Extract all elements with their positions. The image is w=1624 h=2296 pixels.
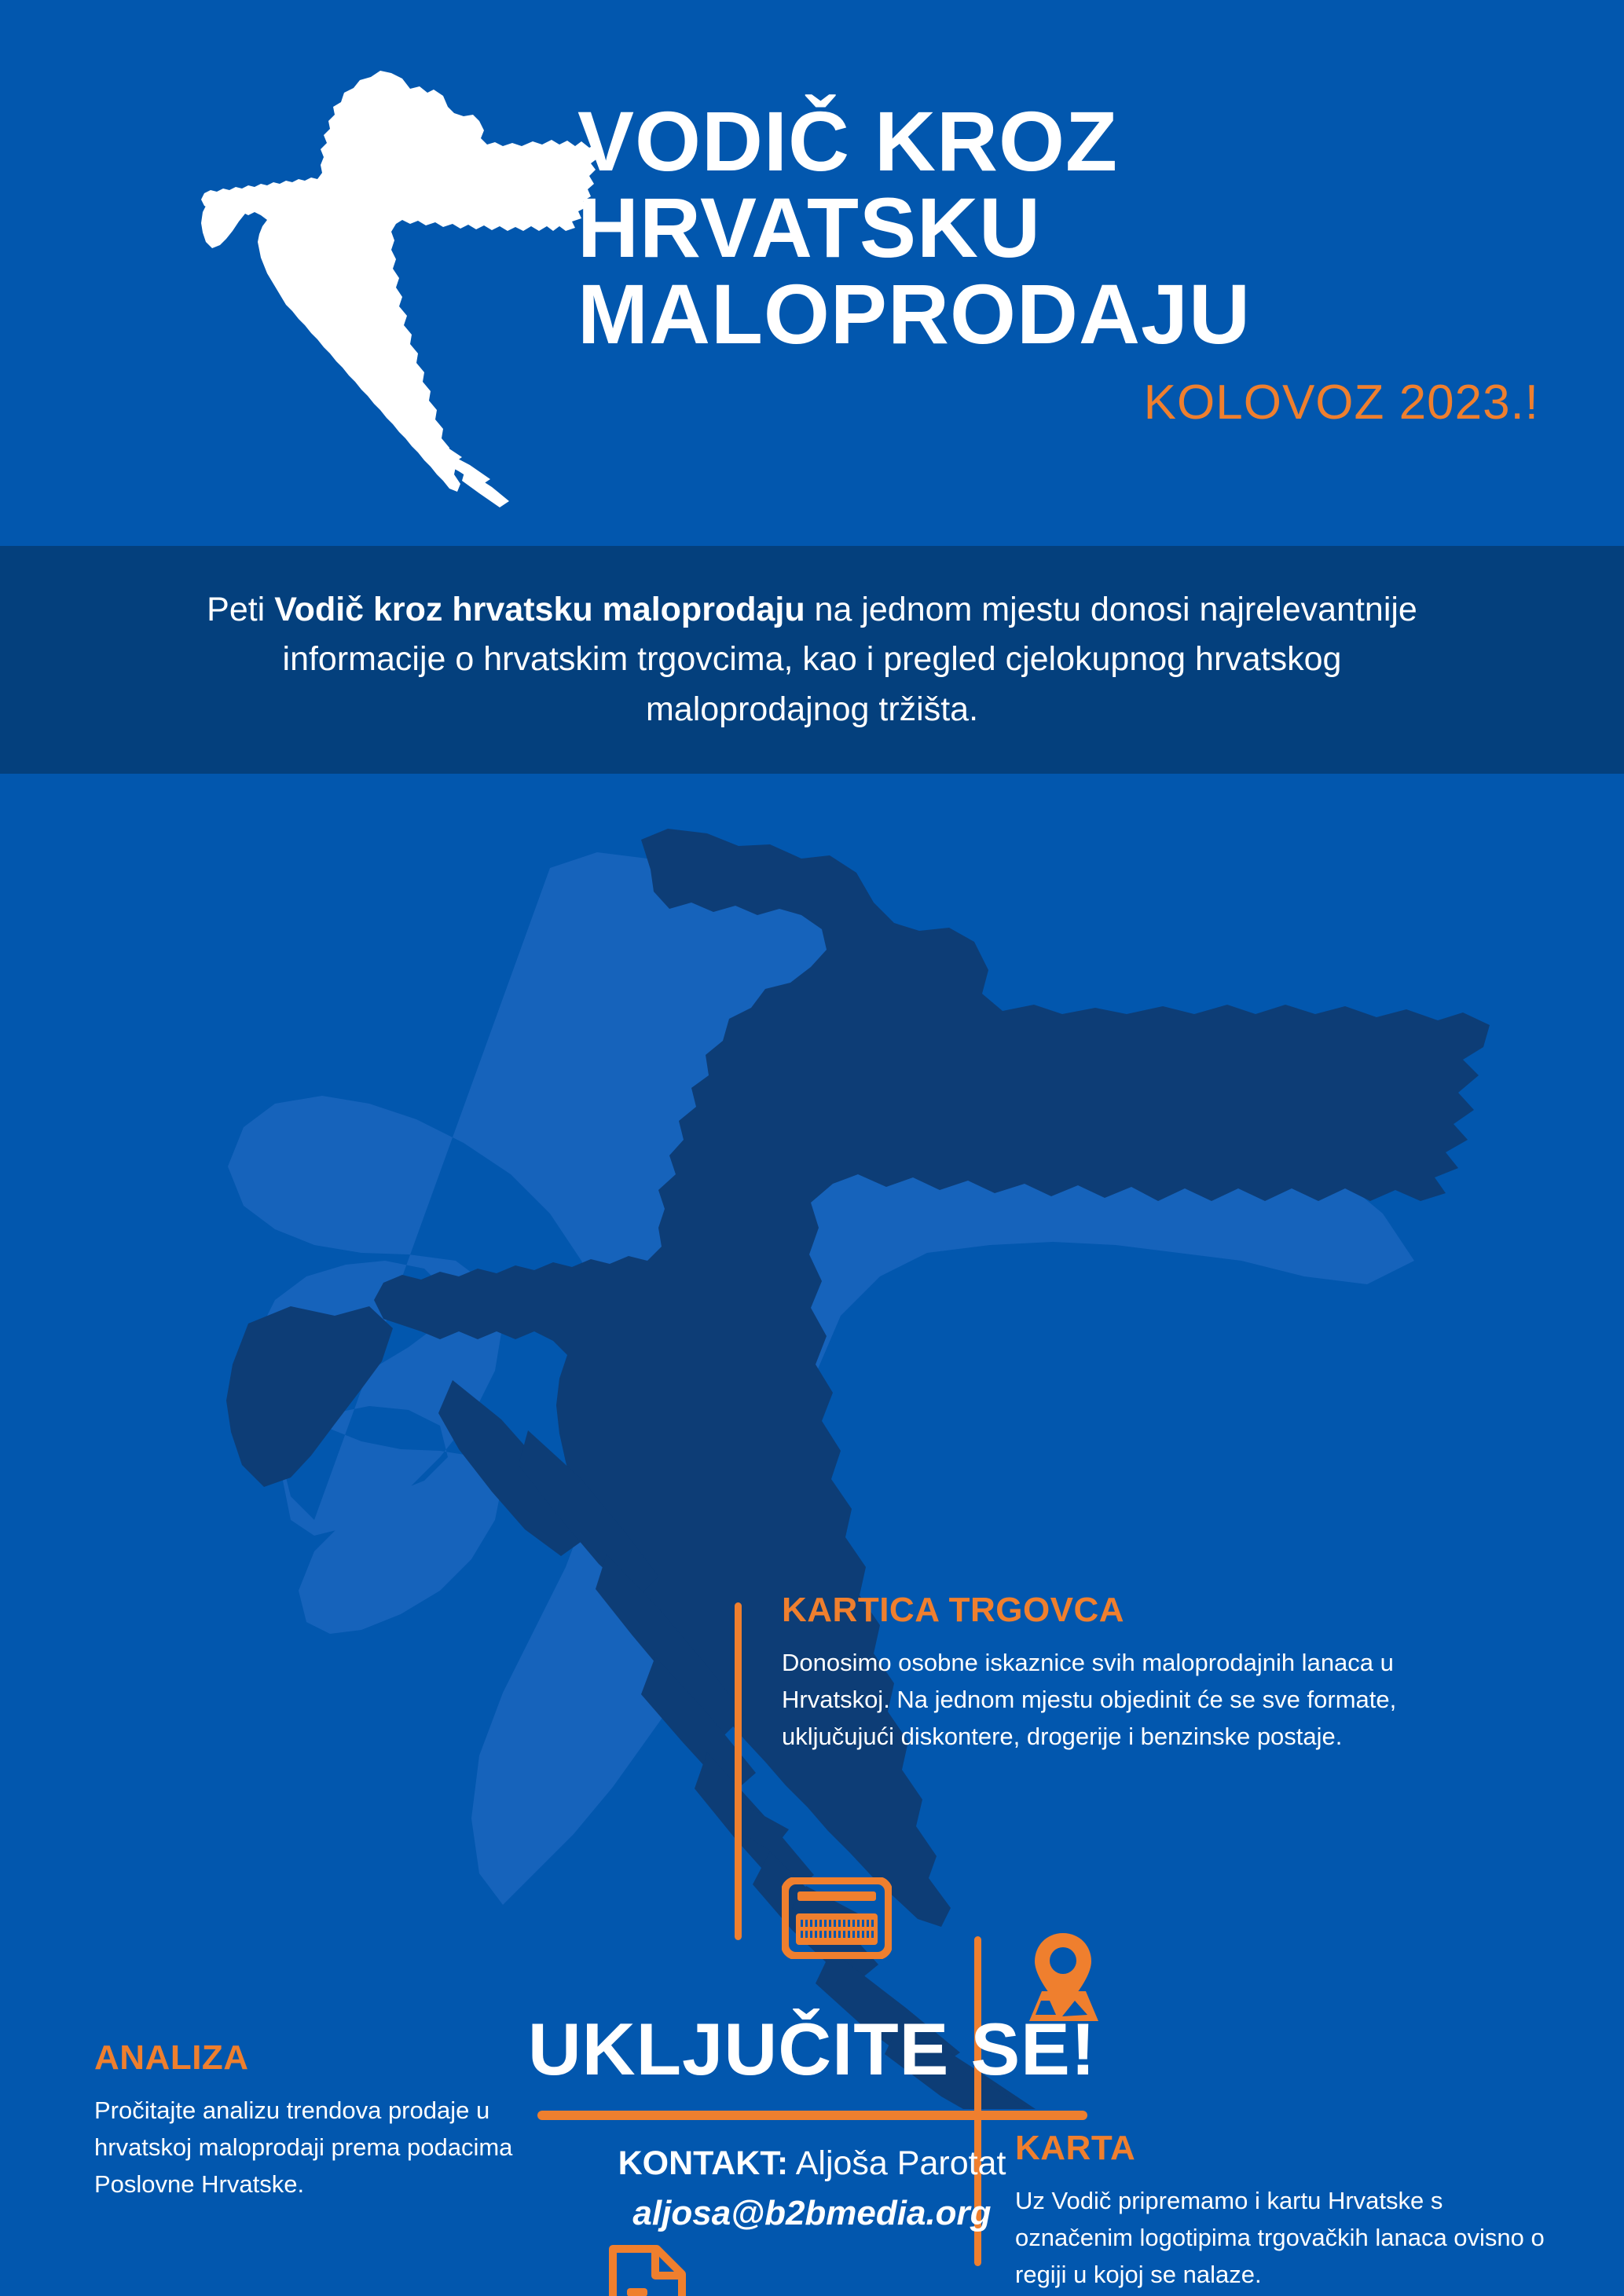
footer-cta: UKLJUČITE SE! KONTAKT: Aljoša Parotat al… (0, 2011, 1624, 2233)
credit-card-icon (782, 1877, 892, 1959)
intro-prefix: Peti (207, 591, 274, 628)
contact-line: KONTAKT: Aljoša Parotat (0, 2140, 1624, 2186)
title-line-1: VODIČ KROZ (577, 98, 1552, 185)
intro-bold-phrase: Vodič kroz hrvatsku maloprodaju (274, 591, 805, 628)
intro-band: Peti Vodič kroz hrvatsku maloprodaju na … (0, 546, 1624, 774)
cta-divider (537, 2111, 1087, 2120)
title-line-2: HRVATSKU (577, 185, 1552, 271)
infographic-poster: VODIČ KROZ HRVATSKU MALOPRODAJU KOLOVOZ … (0, 0, 1624, 2296)
croatia-map-silhouette-icon (167, 38, 607, 517)
cta-headline: UKLJUČITE SE! (0, 2011, 1624, 2089)
section-kartica-trgovca: KARTICA TRGOVCA Donosimo osobne iskaznic… (735, 1583, 1442, 1755)
section-accent-rule (735, 1602, 742, 1940)
section-body: Donosimo osobne iskaznice svih maloproda… (782, 1644, 1402, 1755)
section-text: KARTICA TRGOVCA Donosimo osobne iskaznic… (782, 1583, 1442, 1755)
header-band: VODIČ KROZ HRVATSKU MALOPRODAJU KOLOVOZ … (0, 0, 1624, 546)
contact-name: Aljoša Parotat (788, 2144, 1006, 2182)
contact-email[interactable]: aljosa@b2bmedia.org (0, 2194, 1624, 2233)
issue-date-label: KOLOVOZ 2023.! (577, 375, 1552, 430)
section-title: KARTICA TRGOVCA (782, 1591, 1442, 1630)
intro-paragraph: Peti Vodič kroz hrvatsku maloprodaju na … (176, 585, 1449, 735)
title-line-3: MALOPRODAJU (577, 271, 1552, 357)
contact-label: KONTAKT: (618, 2144, 789, 2182)
document-icon (607, 2243, 688, 2296)
poster-title: VODIČ KROZ HRVATSKU MALOPRODAJU KOLOVOZ … (577, 98, 1552, 430)
